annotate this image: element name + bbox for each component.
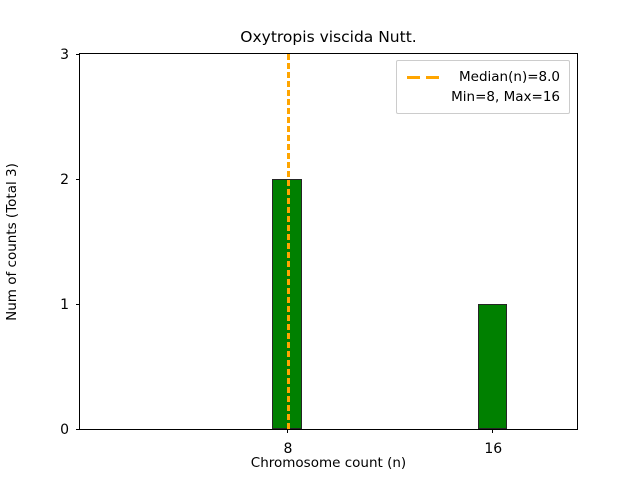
x-axis-label: Chromosome count (n) xyxy=(79,455,578,471)
plot-area: 0 1 2 3 8 16 Median(n)=8.0 xyxy=(79,53,578,430)
median-line xyxy=(287,54,290,429)
ytick-label-1: 1 xyxy=(60,297,69,313)
legend[interactable]: Median(n)=8.0 Min=8, Max=16 xyxy=(396,60,570,114)
blank-swatch-icon xyxy=(406,90,442,104)
ytick-mark-2: 2 xyxy=(76,179,80,180)
xtick-mark-16: 16 xyxy=(492,429,493,433)
y-axis-label-text: Num of counts (Total 3) xyxy=(4,163,20,321)
ytick-mark-3: 3 xyxy=(76,54,80,55)
bar-n-16 xyxy=(478,304,508,429)
legend-item-median: Median(n)=8.0 xyxy=(406,67,560,87)
xtick-mark-8: 8 xyxy=(287,429,288,433)
ytick-label-3: 3 xyxy=(60,47,69,63)
ytick-mark-1: 1 xyxy=(76,304,80,305)
chart-figure: Oxytropis viscida Nutt. 0 1 2 3 8 16 xyxy=(0,0,640,480)
dashed-line-icon xyxy=(406,70,442,84)
page-title: Oxytropis viscida Nutt. xyxy=(79,30,578,46)
y-axis-label: Num of counts (Total 3) xyxy=(0,53,24,430)
legend-label-minmax: Min=8, Max=16 xyxy=(451,89,560,105)
legend-item-minmax: Min=8, Max=16 xyxy=(406,87,560,107)
ytick-label-0: 0 xyxy=(60,422,69,438)
legend-label-median: Median(n)=8.0 xyxy=(451,69,560,85)
ytick-label-2: 2 xyxy=(60,172,69,188)
ytick-mark-0: 0 xyxy=(76,429,80,430)
